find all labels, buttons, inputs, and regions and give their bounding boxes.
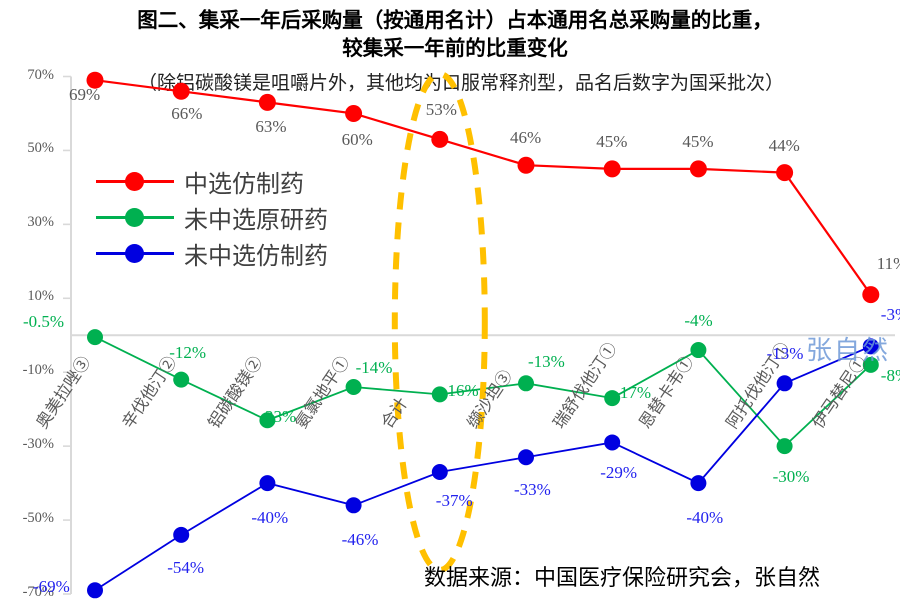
data-point-label: 44% [769, 136, 800, 156]
y-tick-label: -50% [2, 510, 54, 527]
legend-item-2[interactable]: 未中选仿制药 [96, 235, 328, 271]
data-point-label: -12% [169, 343, 206, 363]
data-point-label: -13% [767, 344, 804, 364]
data-point-label: -13% [528, 352, 565, 372]
data-point-label: -30% [773, 467, 810, 487]
source-note: 数据来源：中国医疗保险研究会，张自然 [424, 560, 820, 592]
y-tick-label: -10% [2, 362, 54, 379]
legend-swatch-0 [96, 175, 174, 187]
data-point-label: 45% [596, 132, 627, 152]
data-point-label: 46% [510, 128, 541, 148]
line-chart-plot: 70%50%30%10%-10%-30%-50%-70% 奥美拉唑③辛伐他汀②铝… [0, 0, 900, 609]
legend-label-0: 中选仿制药 [184, 164, 304, 199]
data-point-label: -69% [33, 577, 70, 597]
legend-label-2: 未中选仿制药 [184, 236, 328, 271]
data-point-label: 45% [682, 132, 713, 152]
data-point-label: 11% [877, 254, 900, 274]
y-tick-label: 70% [2, 67, 54, 84]
data-point-label: -17% [614, 383, 651, 403]
data-point-label: -23% [259, 407, 296, 427]
data-point-label: -8% [881, 366, 900, 386]
data-point-label: -37% [436, 491, 473, 511]
y-tick-label: 30% [2, 214, 54, 231]
data-point-label: -16% [442, 381, 479, 401]
chart-legend: 中选仿制药 未中选原研药 未中选仿制药 [96, 163, 328, 271]
data-point-label: -14% [356, 358, 393, 378]
data-point-label: -4% [684, 311, 712, 331]
data-point-label: -54% [167, 558, 204, 578]
data-point-label: 66% [171, 104, 202, 124]
data-point-label: -40% [251, 508, 288, 528]
legend-label-1: 未中选原研药 [184, 200, 328, 235]
legend-item-0[interactable]: 中选仿制药 [96, 163, 328, 199]
data-point-label: 60% [342, 130, 373, 150]
data-point-label: -0.5% [23, 312, 64, 332]
data-point-label: -40% [686, 508, 723, 528]
data-point-label: -29% [600, 463, 637, 483]
data-point-label: 53% [426, 100, 457, 120]
y-tick-label: 50% [2, 140, 54, 157]
data-point-label: 63% [255, 117, 286, 137]
y-tick-label: 10% [2, 288, 54, 305]
watermark-text: 张自然 [806, 330, 890, 367]
y-tick-label: -30% [2, 436, 54, 453]
data-point-label: -33% [514, 480, 551, 500]
data-point-label: 69% [69, 85, 100, 105]
legend-swatch-1 [96, 211, 174, 223]
legend-item-1[interactable]: 未中选原研药 [96, 199, 328, 235]
data-point-label: -46% [342, 530, 379, 550]
data-point-label: -3% [881, 305, 900, 325]
chart-svg [0, 0, 900, 609]
legend-swatch-2 [96, 247, 174, 259]
